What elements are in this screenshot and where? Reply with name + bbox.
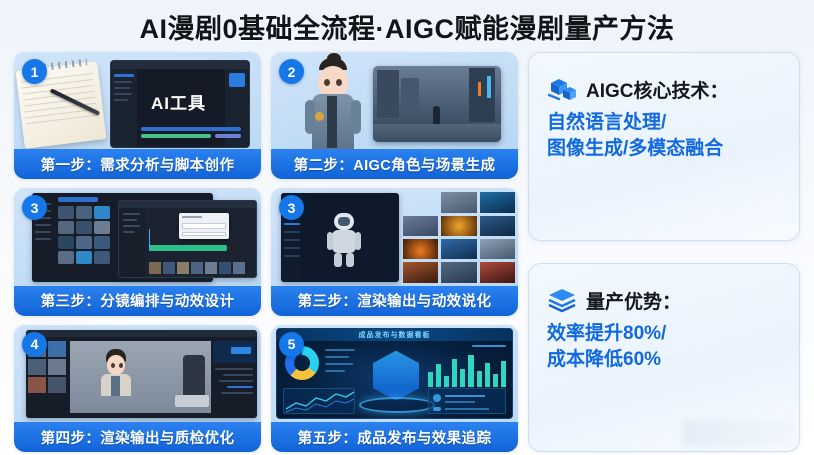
hologram-ring xyxy=(359,397,435,413)
preview-viewport xyxy=(70,341,211,413)
analytics-dashboard-art: 5 成品发布与数据看板 xyxy=(271,325,518,422)
step-caption: 第一步：需求分析与脚本创作 xyxy=(14,149,261,179)
panel-core-technology[interactable]: AIGC核心技术： 自然语言处理/ 图像生成/多模态融合 xyxy=(528,52,800,241)
step-badge: 2 xyxy=(279,59,304,84)
step-caption: 第二步：AIGC角色与场景生成 xyxy=(271,149,518,179)
watermark xyxy=(683,421,793,447)
step-caption: 第三步：分镜编排与动效设计 xyxy=(14,286,261,316)
step-card-6[interactable]: 5 成品发布与数据看板 xyxy=(271,325,518,452)
step-card-5[interactable]: 4 xyxy=(14,325,261,452)
editor-window-front xyxy=(118,200,257,277)
panel-line-1: 效率提升80%/ xyxy=(547,321,783,347)
step-card-grid: 1 AI工具 xyxy=(14,52,518,452)
dashboard-screen: 成品发布与数据看板 xyxy=(276,328,513,419)
step-card-1[interactable]: 1 AI工具 xyxy=(14,52,261,179)
panel-header: 量产优势： xyxy=(547,286,783,314)
content-stage: 1 AI工具 xyxy=(0,52,814,455)
panel-line-2: 成本降低60% xyxy=(547,347,783,373)
line-chart-svg xyxy=(284,389,355,414)
dialog-popup xyxy=(179,213,229,239)
info-panel-column: AIGC核心技术： 自然语言处理/ 图像生成/多模态融合 量产优势： 效率提升8… xyxy=(528,52,800,452)
qc-editor-window xyxy=(26,330,257,418)
panel-production-advantage[interactable]: 量产优势： 效率提升80%/ 成本降低60% xyxy=(528,263,800,452)
panel-line-1: 自然语言处理/ xyxy=(547,110,783,136)
step-card-3[interactable]: 3 xyxy=(14,188,261,315)
cube-box-icon xyxy=(547,75,577,103)
panel-title: AIGC核心技术： xyxy=(586,76,729,103)
scene-thumbnail xyxy=(373,66,501,142)
timeline-thumbnails xyxy=(149,262,245,274)
qc-editor-art: 4 xyxy=(14,325,261,422)
step-caption: 第四步：渲染输出与质检优化 xyxy=(14,422,261,452)
timeline-clip xyxy=(149,245,227,251)
step-card-2[interactable]: 2 xyxy=(271,52,518,179)
monitor-stand xyxy=(160,148,200,149)
step-caption: 第三步：渲染输出与动效说化 xyxy=(271,286,518,316)
notebook-and-monitor-art: 1 AI工具 xyxy=(14,52,261,149)
step-caption: 第五步：成品发布与效果追踪 xyxy=(271,422,518,452)
character-illustration xyxy=(299,58,367,149)
astronaut-render xyxy=(327,213,361,267)
storyboard-editor-art: 3 xyxy=(14,188,261,285)
thumbnail-grid xyxy=(58,206,110,264)
monitor-screen-text: AI工具 xyxy=(151,89,206,114)
hologram-hexagon xyxy=(373,351,419,401)
panel-header: AIGC核心技术： xyxy=(547,75,783,103)
list-panel xyxy=(428,388,506,414)
layers-stack-icon xyxy=(547,286,577,314)
page-header: AI漫剧0基础全流程·AIGC赋能漫剧量产方法 xyxy=(0,0,814,52)
step-card-4[interactable]: 3 xyxy=(271,188,518,315)
step-badge: 4 xyxy=(22,332,47,357)
line-chart xyxy=(283,388,355,414)
step-badge: 5 xyxy=(279,332,304,357)
bar-chart xyxy=(428,351,506,387)
image-gallery-grid xyxy=(403,192,515,282)
render-gallery-art: 3 xyxy=(271,188,518,285)
dashboard-screen-title: 成品发布与数据看板 xyxy=(277,330,512,340)
page-title: AI漫剧0基础全流程·AIGC赋能漫剧量产方法 xyxy=(139,7,674,46)
step-badge: 1 xyxy=(22,59,47,84)
monitor-icon: AI工具 xyxy=(110,60,250,148)
panel-line-2: 图像生成/多模态融合 xyxy=(547,136,783,162)
character-and-scene-art: 2 xyxy=(271,52,518,149)
panel-title: 量产优势： xyxy=(586,287,681,314)
